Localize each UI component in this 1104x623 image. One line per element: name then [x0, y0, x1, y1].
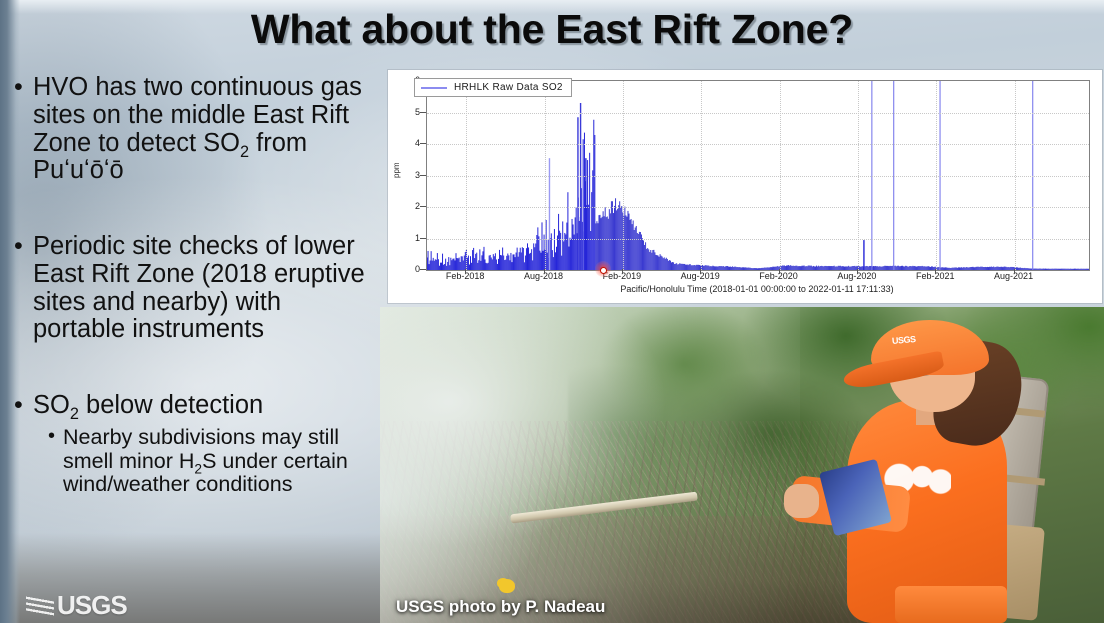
bullet-marker-icon: • [14, 74, 33, 100]
bullet-list: • HVO has two continuous gas sites on th… [14, 74, 374, 497]
chart-gridline-vertical [1015, 81, 1016, 270]
subscript-2: 2 [194, 461, 202, 476]
so2-timeseries-chart: ppm 0123456 HRHLK Raw Data SO2 Feb-2018A… [388, 70, 1102, 303]
bullet-marker-icon: • [48, 426, 63, 447]
photo-hand [784, 484, 819, 518]
usgs-wordmark-text: USGS [57, 590, 127, 621]
bullet-text-1: HVO has two continuous gas sites on the … [33, 74, 374, 185]
chart-x-tick-mark [857, 269, 858, 274]
bullet-text-2: Periodic site checks of lower East Rift … [33, 233, 374, 344]
bullet-text-4: Nearby subdivisions may still smell mino… [63, 426, 374, 497]
chart-x-tick-mark [779, 269, 780, 274]
chart-x-tick-mark [544, 269, 545, 274]
chart-x-tick-mark [700, 269, 701, 274]
photo-scientist: USGS [756, 313, 1104, 623]
chart-gridline-horizontal [427, 113, 1089, 114]
list-item: • Periodic site checks of lower East Rif… [14, 233, 374, 344]
legend-color-swatch [421, 87, 447, 89]
bullet-marker-icon: • [14, 392, 33, 418]
chart-gridline-horizontal [427, 144, 1089, 145]
subscript-2: 2 [70, 405, 79, 423]
chart-y-axis: 0123456 [388, 80, 426, 269]
list-item: • HVO has two continuous gas sites on th… [14, 74, 374, 185]
photo-credit: USGS photo by P. Nadeau [396, 597, 605, 617]
chart-gridline-horizontal [427, 239, 1089, 240]
usgs-wave-icon [26, 594, 54, 618]
photo-steam-mist [380, 307, 800, 623]
chart-gridline-horizontal [427, 207, 1089, 208]
photo-cap-logo-text: USGS [892, 334, 916, 346]
photo-legs [895, 586, 1006, 623]
chart-gridline-horizontal [427, 176, 1089, 177]
chart-x-axis-caption: Pacific/Honolulu Time (2018-01-01 00:00:… [426, 284, 1088, 294]
subscript-2: 2 [240, 143, 249, 161]
chart-legend: HRHLK Raw Data SO2 [414, 78, 572, 97]
chart-x-tick-mark [622, 269, 623, 274]
chart-x-tick-mark [465, 269, 466, 274]
page-title: What about the East Rift Zone? [0, 6, 1104, 53]
bullet-text-3: SO2 below detection [33, 392, 374, 420]
usgs-logo: USGS [26, 590, 127, 621]
chart-x-tick-mark [1014, 269, 1015, 274]
chart-plot-area [426, 80, 1090, 271]
list-item-sub: • Nearby subdivisions may still smell mi… [48, 426, 374, 497]
chart-gridline-vertical [858, 81, 859, 270]
bullet-marker-icon: • [14, 233, 33, 259]
chart-gridline-vertical [936, 81, 937, 270]
chart-gridline-vertical [623, 81, 624, 270]
chart-gridline-vertical [780, 81, 781, 270]
field-photo: USGS USGS photo by P. Nadeau [380, 307, 1104, 623]
chart-gridline-vertical [466, 81, 467, 270]
chart-x-tick-mark [935, 269, 936, 274]
presentation-slide: What about the East Rift Zone? • HVO has… [0, 0, 1104, 623]
chart-gridline-vertical [701, 81, 702, 270]
red-cursor-marker [595, 261, 611, 277]
list-item: • SO2 below detection [14, 392, 374, 420]
photo-yellow-object [499, 579, 515, 593]
chart-gridline-vertical [545, 81, 546, 270]
legend-label: HRHLK Raw Data SO2 [454, 82, 563, 93]
